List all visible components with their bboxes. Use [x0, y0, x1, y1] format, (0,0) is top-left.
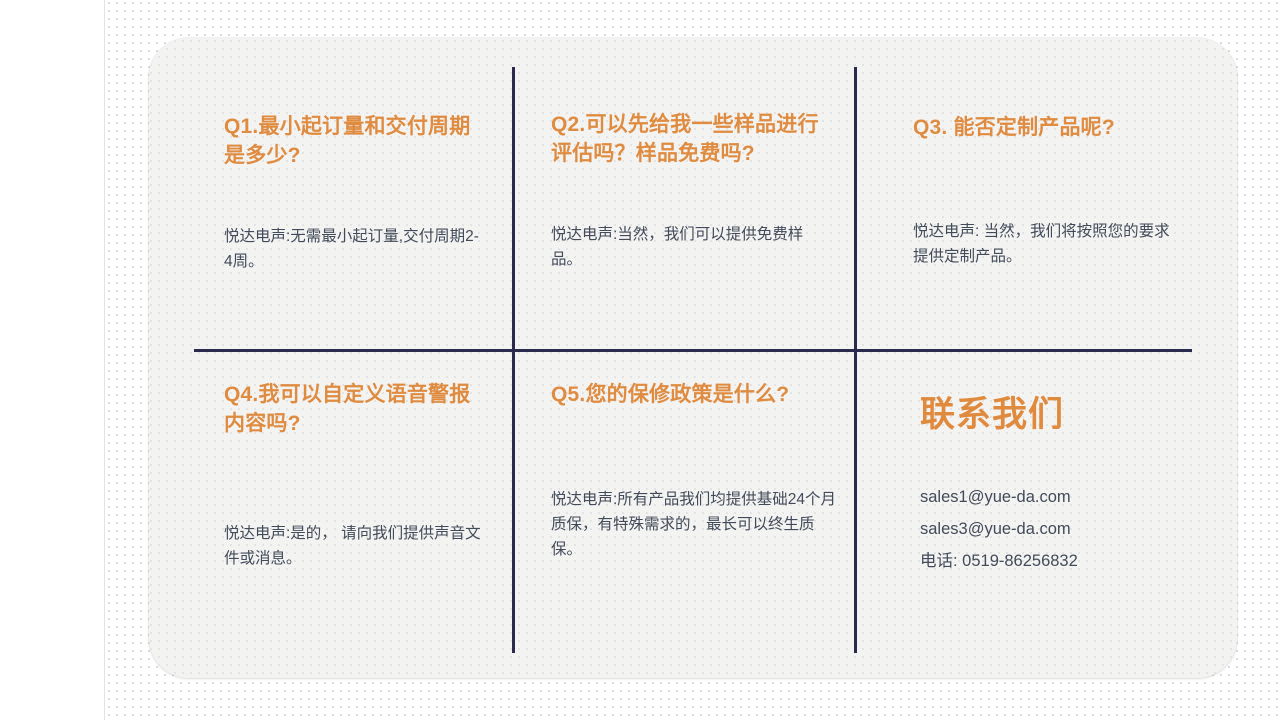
faq-item-q2: Q2.可以先给我一些样品进行评估吗？样品免费吗? 悦达电声:当然，我们可以提供免… [551, 110, 823, 272]
faq-item-q5: Q5.您的保修政策是什么? 悦达电声:所有产品我们均提供基础24个月质保，有特殊… [551, 380, 845, 562]
contact-title: 联系我们 [920, 392, 1200, 437]
contact-email-secondary[interactable]: sales3@yue-da.com [920, 513, 1200, 545]
contact-block: 联系我们 sales1@yue-da.com sales3@yue-da.com… [920, 392, 1200, 577]
divider-horizontal [194, 349, 1192, 352]
contact-list: sales1@yue-da.com sales3@yue-da.com 电话: … [920, 481, 1200, 577]
faq-answer-q3: 悦达电声: 当然，我们将按照您的要求提供定制产品。 [913, 219, 1185, 269]
faq-answer-q2: 悦达电声:当然，我们可以提供免费样品。 [551, 222, 823, 272]
faq-answer-q4: 悦达电声:是的， 请向我们提供声音文件或消息。 [224, 521, 490, 571]
faq-question-q3: Q3. 能否定制产品呢? [913, 113, 1185, 142]
faq-answer-q5: 悦达电声:所有产品我们均提供基础24个月质保，有特殊需求的，最长可以终生质保。 [551, 487, 845, 562]
slide-canvas: Q1.最小起订量和交付周期是多少? 悦达电声:无需最小起订量,交付周期2-4周。… [0, 0, 1280, 720]
divider-vertical-right [854, 67, 857, 653]
faq-item-q3: Q3. 能否定制产品呢? 悦达电声: 当然，我们将按照您的要求提供定制产品。 [913, 113, 1185, 269]
faq-question-q4: Q4.我可以自定义语音警报内容吗? [224, 380, 490, 438]
left-margin-rule [104, 0, 105, 720]
faq-item-q4: Q4.我可以自定义语音警报内容吗? 悦达电声:是的， 请向我们提供声音文件或消息… [224, 380, 490, 571]
divider-vertical-left [512, 67, 515, 653]
faq-question-q1: Q1.最小起订量和交付周期是多少? [224, 112, 486, 170]
faq-answer-q1: 悦达电声:无需最小起订量,交付周期2-4周。 [224, 224, 486, 274]
faq-question-q5: Q5.您的保修政策是什么? [551, 380, 845, 409]
contact-phone[interactable]: 电话: 0519-86256832 [920, 545, 1200, 577]
faq-question-q2: Q2.可以先给我一些样品进行评估吗？样品免费吗? [551, 110, 823, 168]
faq-item-q1: Q1.最小起订量和交付周期是多少? 悦达电声:无需最小起订量,交付周期2-4周。 [224, 112, 486, 274]
contact-email-primary[interactable]: sales1@yue-da.com [920, 481, 1200, 513]
